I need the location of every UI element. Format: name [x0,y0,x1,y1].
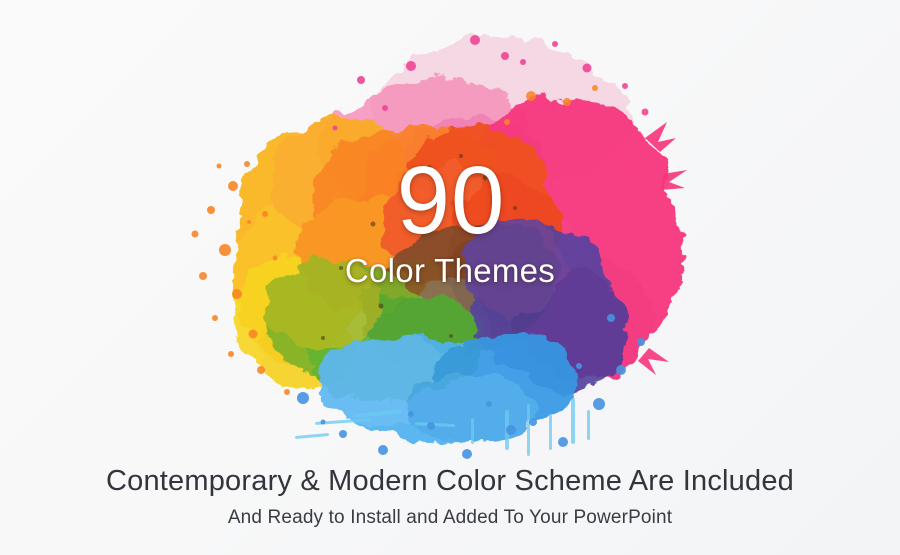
caption-block: Contemporary & Modern Color Scheme Are I… [0,465,900,529]
watercolor-splash-artwork [175,18,705,468]
splash-svg [175,18,705,468]
caption-headline: Contemporary & Modern Color Scheme Are I… [0,465,900,498]
caption-subline: And Ready to Install and Added To Your P… [0,507,900,529]
grain-overlay [175,18,705,468]
slide-canvas: 90 Color Themes Contemporary & Modern Co… [0,0,900,555]
